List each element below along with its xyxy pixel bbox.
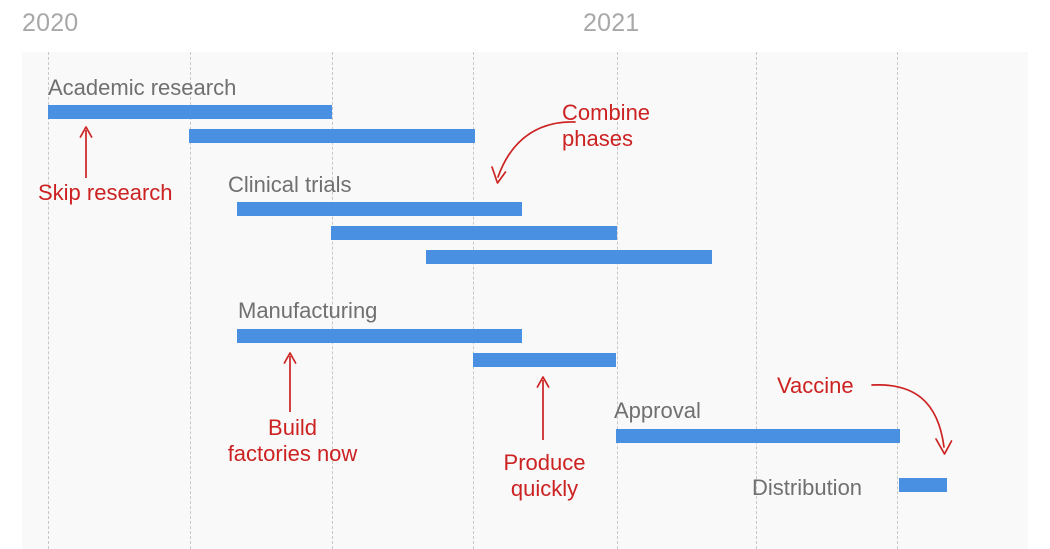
annotation-vaccine: Vaccine: [777, 373, 854, 399]
task-label-approval: Approval: [614, 400, 701, 422]
annotation-produce-quickly: Produce quickly: [487, 450, 602, 502]
annotation-skip-research: Skip research: [38, 180, 173, 206]
task-bar-clinical-trials-1[interactable]: [237, 202, 522, 216]
axis-tick-2021: 2021: [583, 11, 639, 36]
task-bar-distribution-1[interactable]: [899, 478, 947, 492]
axis-tick-2020: 2020: [22, 11, 78, 36]
task-label-distribution: Distribution: [752, 477, 862, 499]
gridline: [190, 52, 191, 549]
task-bar-academic-research-2[interactable]: [189, 129, 475, 143]
task-bar-clinical-trials-2[interactable]: [331, 226, 617, 240]
task-bar-manufacturing-2[interactable]: [473, 353, 616, 367]
task-bar-approval-1[interactable]: [616, 429, 900, 443]
gantt-chart: 2020 2021 Academic research Clinical tri…: [0, 0, 1050, 549]
gridline: [897, 52, 898, 549]
annotation-build-factories-now: Build factories now: [210, 415, 375, 467]
task-bar-academic-research-1[interactable]: [48, 105, 332, 119]
task-label-manufacturing: Manufacturing: [238, 300, 377, 322]
task-label-academic-research: Academic research: [48, 77, 236, 99]
task-bar-manufacturing-1[interactable]: [237, 329, 522, 343]
gridline: [473, 52, 474, 549]
gridline: [48, 52, 49, 549]
annotation-combine-phases: Combine phases: [562, 100, 650, 152]
task-bar-clinical-trials-3[interactable]: [426, 250, 712, 264]
task-label-clinical-trials: Clinical trials: [228, 174, 351, 196]
